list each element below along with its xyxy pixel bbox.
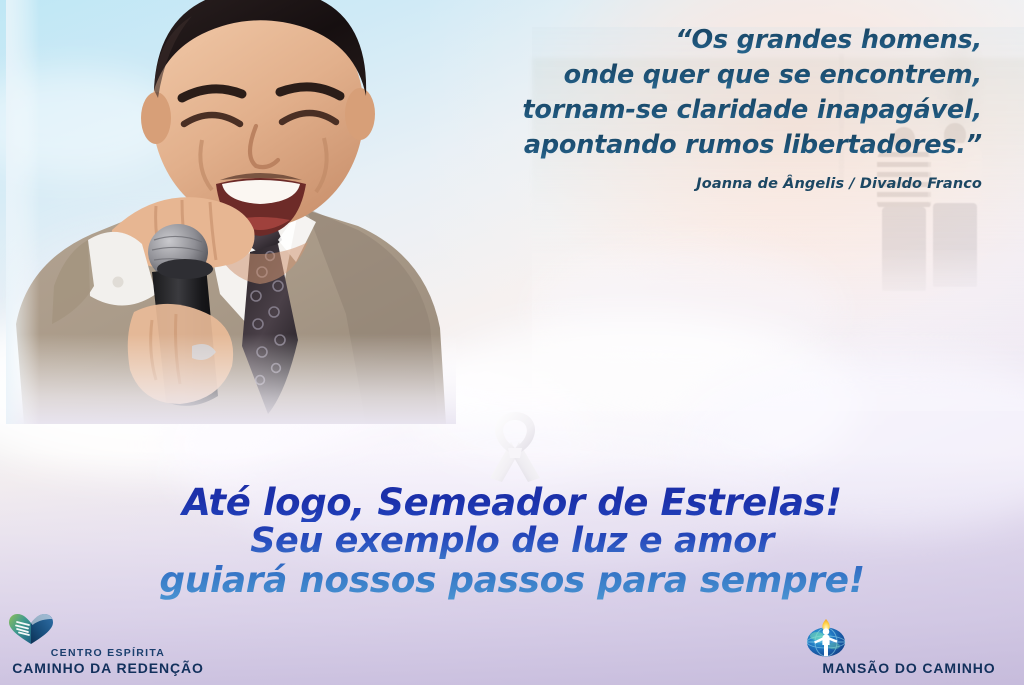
quote-line-2: onde quer que se encontrem, (422, 59, 982, 92)
headline-line-3: guiará nossos passos para sempre! (0, 561, 1024, 601)
logo-left-line-1: CENTRO ESPÍRITA (8, 647, 208, 660)
quote-line-1: “Os grandes homens, (422, 24, 982, 57)
quote-line-4: apontando rumos libertadores.” (422, 129, 982, 162)
headline-line-1: Até logo, Semeador de Estrelas! (0, 484, 1024, 522)
memorial-poster: “Os grandes homens, onde quer que se enc… (0, 0, 1024, 685)
globe-figure-flame-icon (804, 618, 1014, 658)
heart-hands-icon (8, 613, 208, 645)
headline-block: Até logo, Semeador de Estrelas! Seu exem… (0, 484, 1024, 600)
quote-attribution: Joanna de Ângelis / Divaldo Franco (422, 175, 982, 194)
quote-line-3: tornam-se claridade inapagável, (422, 94, 982, 127)
logo-right-line-1: MANSÃO DO CAMINHO (804, 660, 1014, 677)
white-awareness-ribbon-icon (478, 408, 552, 486)
quote-block: “Os grandes homens, onde quer que se enc… (422, 24, 982, 208)
logo-mansao-do-caminho: MANSÃO DO CAMINHO (804, 618, 1014, 677)
portrait-smiling-man-with-microphone (6, 0, 456, 424)
logo-centro-espirita-caminho-da-redencao: CENTRO ESPÍRITA CAMINHO DA REDENÇÃO (8, 613, 208, 677)
headline-line-2: Seu exemplo de luz e amor (0, 522, 1024, 561)
logo-left-line-2: CAMINHO DA REDENÇÃO (8, 660, 208, 677)
